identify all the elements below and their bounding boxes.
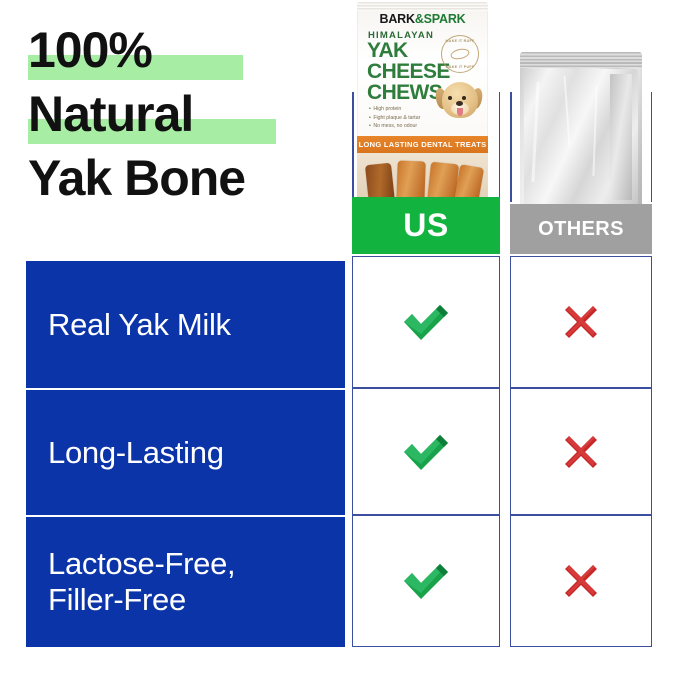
package-brand: BARK&SPARK	[357, 12, 488, 26]
column-header-us-label: US	[403, 207, 448, 244]
table-frame-line	[352, 92, 354, 202]
brand-primary: BARK	[380, 12, 415, 26]
table-frame-line	[510, 92, 512, 202]
headline-line-2: Natural	[28, 82, 348, 146]
headline-line-3: Yak Bone	[28, 146, 348, 210]
table-cell-others-row-0	[510, 256, 652, 388]
feature-label: Long-Lasting	[48, 435, 224, 471]
brand-secondary: &SPARK	[415, 12, 466, 26]
table-cell-others-row-2	[510, 515, 652, 647]
package-title-line-1: YAK	[367, 40, 450, 61]
table-frame-line	[651, 92, 653, 202]
stamp-top-text: MAKE IT RUFF	[442, 39, 478, 43]
column-header-us: US	[352, 197, 500, 254]
feature-box-long-lasting: Long-Lasting	[26, 390, 345, 515]
package-zip-seal	[357, 2, 488, 11]
stamp-bottom-text: MAKE IT PUFF	[442, 65, 478, 69]
package-banner-text: LONG LASTING DENTAL TREATS	[359, 140, 487, 149]
dog-eye-left	[448, 96, 452, 100]
feature-label: Real Yak Milk	[48, 307, 231, 343]
table-cell-us-row-0	[352, 256, 500, 388]
column-header-others-label: OTHERS	[538, 218, 624, 241]
table-cell-us-row-1	[352, 388, 500, 515]
product-package-us: BARK&SPARK HIMALAYAN YAK CHEESE CHEWS MA…	[357, 2, 488, 200]
others-pouch-gusset	[610, 74, 632, 200]
dog-photo-icon	[432, 76, 486, 134]
feature-box-real-yak-milk: Real Yak Milk	[26, 261, 345, 388]
table-cell-others-row-1	[510, 388, 652, 515]
stamp-bone-icon	[450, 47, 471, 61]
feature-box-lactose-free: Lactose-Free,Filler-Free	[26, 517, 345, 647]
headline-line-3-text: Yak Bone	[28, 150, 245, 206]
cross-icon	[561, 561, 601, 601]
column-header-others: OTHERS	[510, 204, 652, 254]
make-it-ruff-stamp-icon: MAKE IT RUFF MAKE IT PUFF	[441, 35, 479, 73]
cross-icon	[561, 432, 601, 472]
package-banner: LONG LASTING DENTAL TREATS	[357, 136, 488, 153]
yak-chew-stick	[454, 164, 484, 200]
table-frame-line	[499, 92, 501, 202]
product-package-others	[520, 52, 642, 208]
dog-nose	[456, 101, 463, 106]
yak-chew-stick	[365, 163, 395, 200]
check-icon	[400, 431, 452, 473]
package-bullet: No mess, no odour	[369, 122, 420, 131]
dog-eye-right	[462, 96, 466, 100]
headline-line-2-text: Natural	[28, 86, 193, 142]
check-icon	[400, 560, 452, 602]
feature-label: Lactose-Free,Filler-Free	[48, 546, 235, 618]
headline-line-1: 100%	[28, 18, 348, 82]
cross-icon	[561, 302, 601, 342]
package-bullet-list: High protein Fight plaque & tartar No me…	[369, 105, 420, 131]
headline-line-1-text: 100%	[28, 22, 152, 78]
package-bullet: High protein	[369, 105, 420, 114]
check-icon	[400, 301, 452, 343]
table-cell-us-row-2	[352, 515, 500, 647]
package-chews-window: GRAIN FREE 100% NATURAL NO ADDITIVES	[357, 153, 488, 200]
dog-tongue	[457, 108, 463, 116]
others-zip-seal	[520, 52, 642, 68]
package-bullet: Fight plaque & tartar	[369, 114, 420, 123]
page-title: 100% Natural Yak Bone	[28, 18, 348, 210]
yak-chew-stick	[396, 161, 425, 200]
